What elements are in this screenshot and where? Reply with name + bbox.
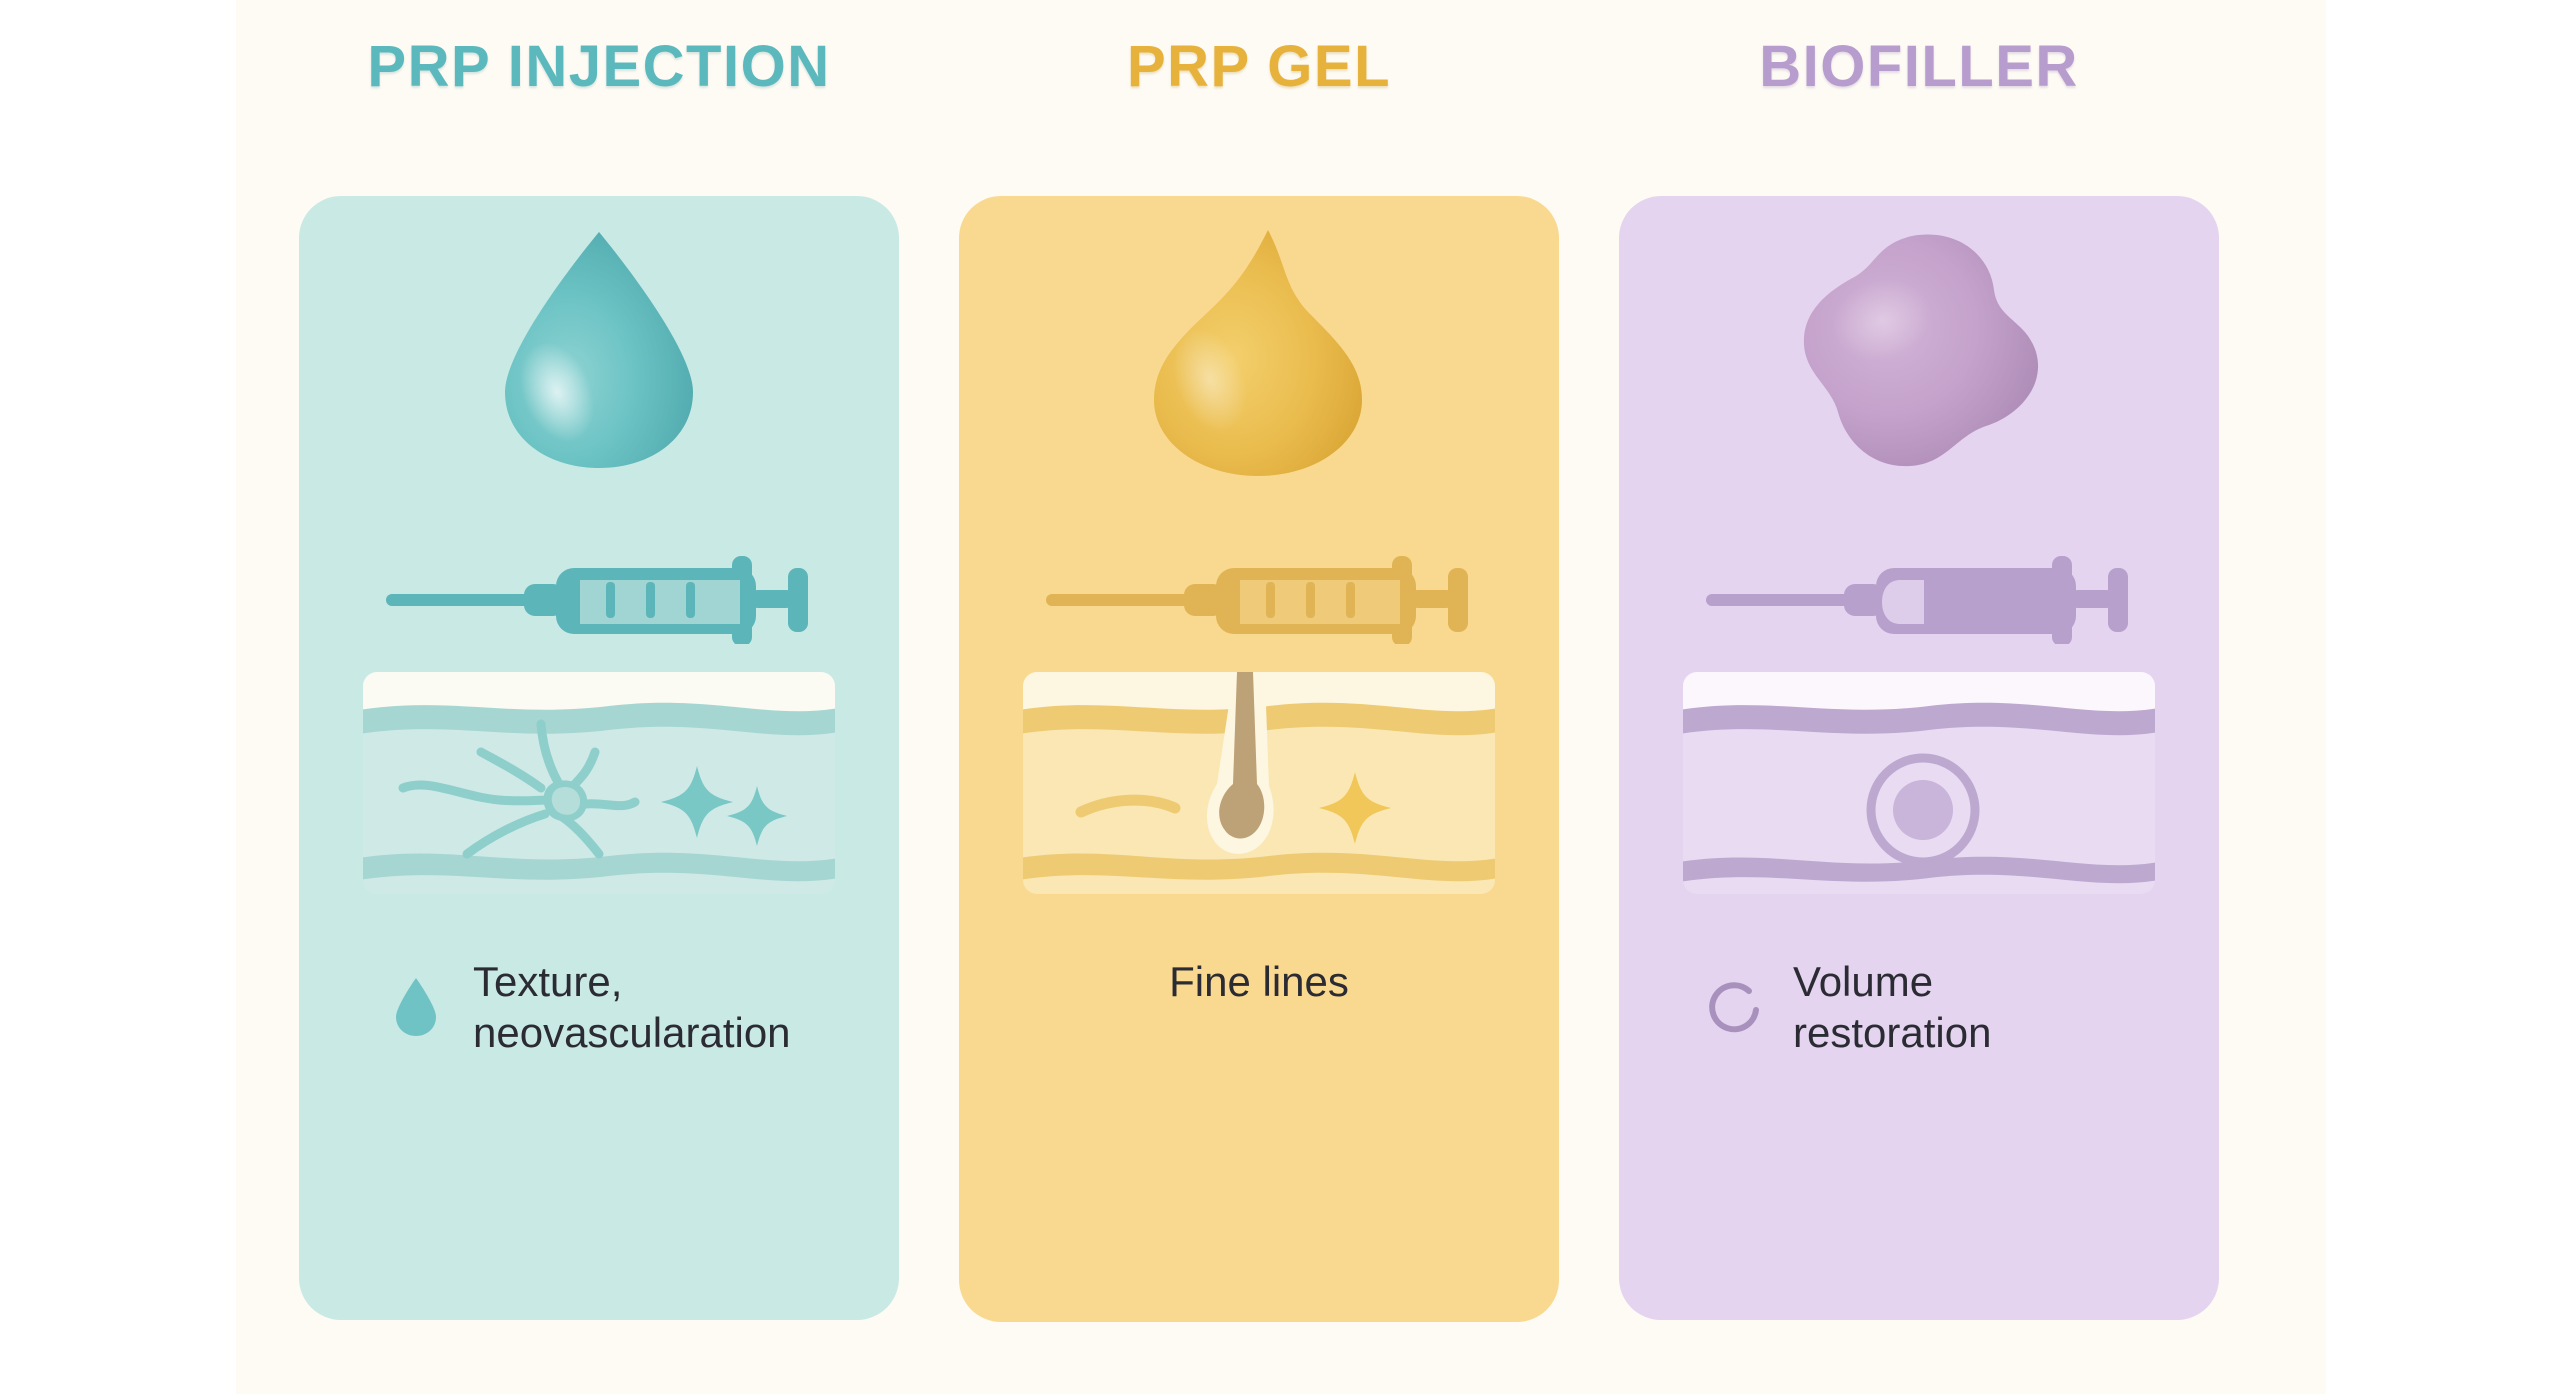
column-biofiller: BIOFILLER: [1619, 0, 2219, 1394]
column-title-prp-injection: PRP INJECTION: [299, 38, 899, 96]
comparison-columns: PRP INJECTION: [236, 0, 2326, 1394]
caption-prp-gel: Fine lines: [959, 956, 1559, 1007]
gel-drop-icon: [959, 224, 1559, 494]
card-prp-gel[interactable]: Fine lines: [959, 196, 1559, 1322]
column-prp-gel: PRP GEL: [959, 0, 1559, 1394]
column-title-biofiller: BIOFILLER: [1619, 38, 2219, 96]
skin-cross-section-vascular-icon: [299, 666, 899, 916]
card-biofiller[interactable]: Volume restoration: [1619, 196, 2219, 1320]
syringe-icon: [959, 554, 1559, 664]
caption-text: Fine lines: [1169, 956, 1349, 1007]
syringe-icon: [299, 554, 899, 664]
syringe-icon: [1619, 554, 2219, 664]
column-title-prp-gel: PRP GEL: [959, 38, 1559, 96]
caption-text: Volume restoration: [1793, 956, 2133, 1058]
infographic-stage: PRP INJECTION: [0, 0, 2560, 1394]
skin-cross-section-filler-deposit-icon: [1619, 666, 2219, 916]
card-prp-injection[interactable]: Texture, neovascularation: [299, 196, 899, 1320]
caption-biofiller: Volume restoration: [1619, 956, 2219, 1058]
ring-icon: [1705, 972, 1767, 1042]
column-prp-injection: PRP INJECTION: [299, 0, 899, 1394]
droplet-icon: [299, 224, 899, 494]
skin-cross-section-follicle-icon: [959, 666, 1559, 916]
caption-text: Texture, neovascularation: [473, 956, 813, 1058]
droplet-icon: [385, 972, 447, 1042]
caption-prp-injection: Texture, neovascularation: [299, 956, 899, 1058]
blob-icon: [1619, 224, 2219, 494]
